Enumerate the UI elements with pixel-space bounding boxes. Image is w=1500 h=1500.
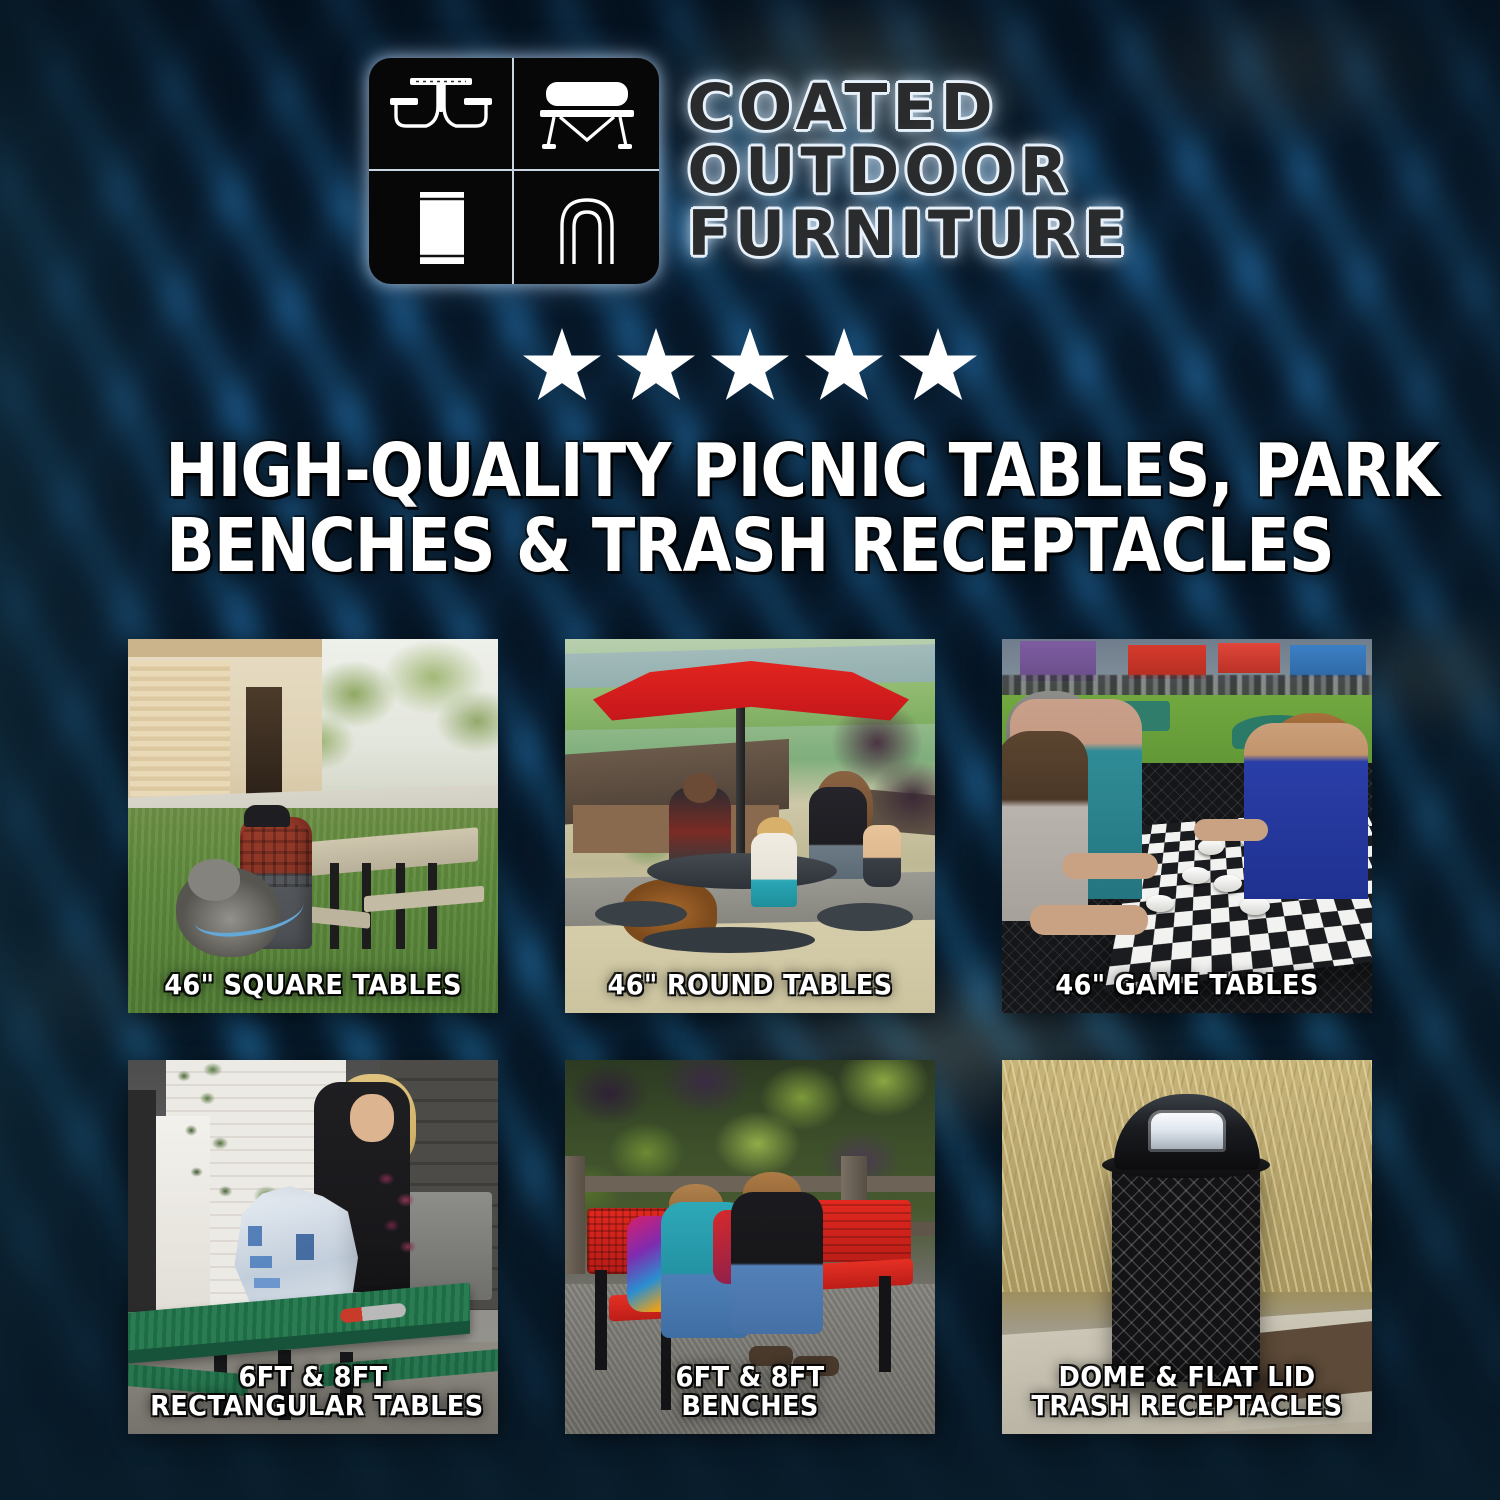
star-icon-4 bbox=[804, 328, 884, 406]
product-tile-round-tables[interactable]: 46" ROUND TABLES bbox=[565, 639, 935, 1013]
picnic-table-icon bbox=[369, 58, 514, 171]
product-caption-line2: TRASH RECEPTACLES bbox=[1024, 1391, 1350, 1420]
product-photo-game-tables bbox=[1002, 639, 1372, 1013]
headline-line1: HIGH-QUALITY PICNIC TABLES, PARK bbox=[165, 434, 1335, 509]
brand-lockup: COATED OUTDOOR FURNITURE bbox=[0, 58, 1500, 284]
product-caption: 46" ROUND TABLES bbox=[580, 970, 920, 999]
product-caption-line1: 6FT & 8FT bbox=[587, 1362, 913, 1391]
star-icon-1 bbox=[522, 328, 602, 406]
product-tile-rectangular-tables[interactable]: 6FT & 8FT RECTANGULAR TABLES bbox=[128, 1060, 498, 1434]
brand-wordmark: COATED OUTDOOR FURNITURE bbox=[687, 77, 1130, 264]
product-photo-square-tables bbox=[128, 639, 498, 1013]
brand-wordmark-line1: COATED bbox=[687, 77, 1130, 139]
product-caption: DOME & FLAT LID TRASH RECEPTACLES bbox=[1017, 1362, 1357, 1420]
product-caption: 6FT & 8FT RECTANGULAR TABLES bbox=[143, 1362, 483, 1420]
brand-logo-mark bbox=[369, 58, 659, 284]
bike-rack-icon bbox=[514, 171, 659, 284]
header: COATED OUTDOOR FURNITURE HIGH-QUALITY PI… bbox=[0, 58, 1500, 585]
product-tile-benches[interactable]: 6FT & 8FT BENCHES bbox=[565, 1060, 935, 1434]
star-icon-2 bbox=[616, 328, 696, 406]
product-caption-line1: 46" ROUND TABLES bbox=[587, 970, 913, 999]
product-caption-line2: RECTANGULAR TABLES bbox=[150, 1391, 476, 1420]
star-icon-5 bbox=[898, 328, 978, 406]
trash-receptacle-icon bbox=[369, 171, 514, 284]
product-grid: 46" SQUARE TABLES bbox=[128, 639, 1372, 1434]
product-caption: 6FT & 8FT BENCHES bbox=[580, 1362, 920, 1420]
product-photo-round-tables bbox=[565, 639, 935, 1013]
product-tile-trash-receptacles[interactable]: DOME & FLAT LID TRASH RECEPTACLES bbox=[1002, 1060, 1372, 1434]
product-tile-game-tables[interactable]: 46" GAME TABLES bbox=[1002, 639, 1372, 1013]
headline: HIGH-QUALITY PICNIC TABLES, PARK BENCHES… bbox=[105, 434, 1395, 585]
headline-line2: BENCHES & TRASH RECEPTACLES bbox=[165, 509, 1335, 584]
star-rating bbox=[0, 328, 1500, 406]
product-tile-square-tables[interactable]: 46" SQUARE TABLES bbox=[128, 639, 498, 1013]
product-caption-line1: DOME & FLAT LID bbox=[1024, 1362, 1350, 1391]
star-icon-3 bbox=[710, 328, 790, 406]
product-caption: 46" SQUARE TABLES bbox=[143, 970, 483, 999]
product-caption-line2: BENCHES bbox=[587, 1391, 913, 1420]
product-caption-line1: 46" SQUARE TABLES bbox=[150, 970, 476, 999]
brand-wordmark-line3: FURNITURE bbox=[687, 204, 1130, 265]
promo-banner: COATED OUTDOOR FURNITURE HIGH-QUALITY PI… bbox=[0, 0, 1500, 1500]
product-caption: 46" GAME TABLES bbox=[1017, 970, 1357, 999]
product-caption-line1: 46" GAME TABLES bbox=[1024, 970, 1350, 999]
park-bench-icon bbox=[514, 58, 659, 171]
brand-wordmark-line2: OUTDOOR bbox=[687, 141, 1130, 202]
product-caption-line1: 6FT & 8FT bbox=[150, 1362, 476, 1391]
